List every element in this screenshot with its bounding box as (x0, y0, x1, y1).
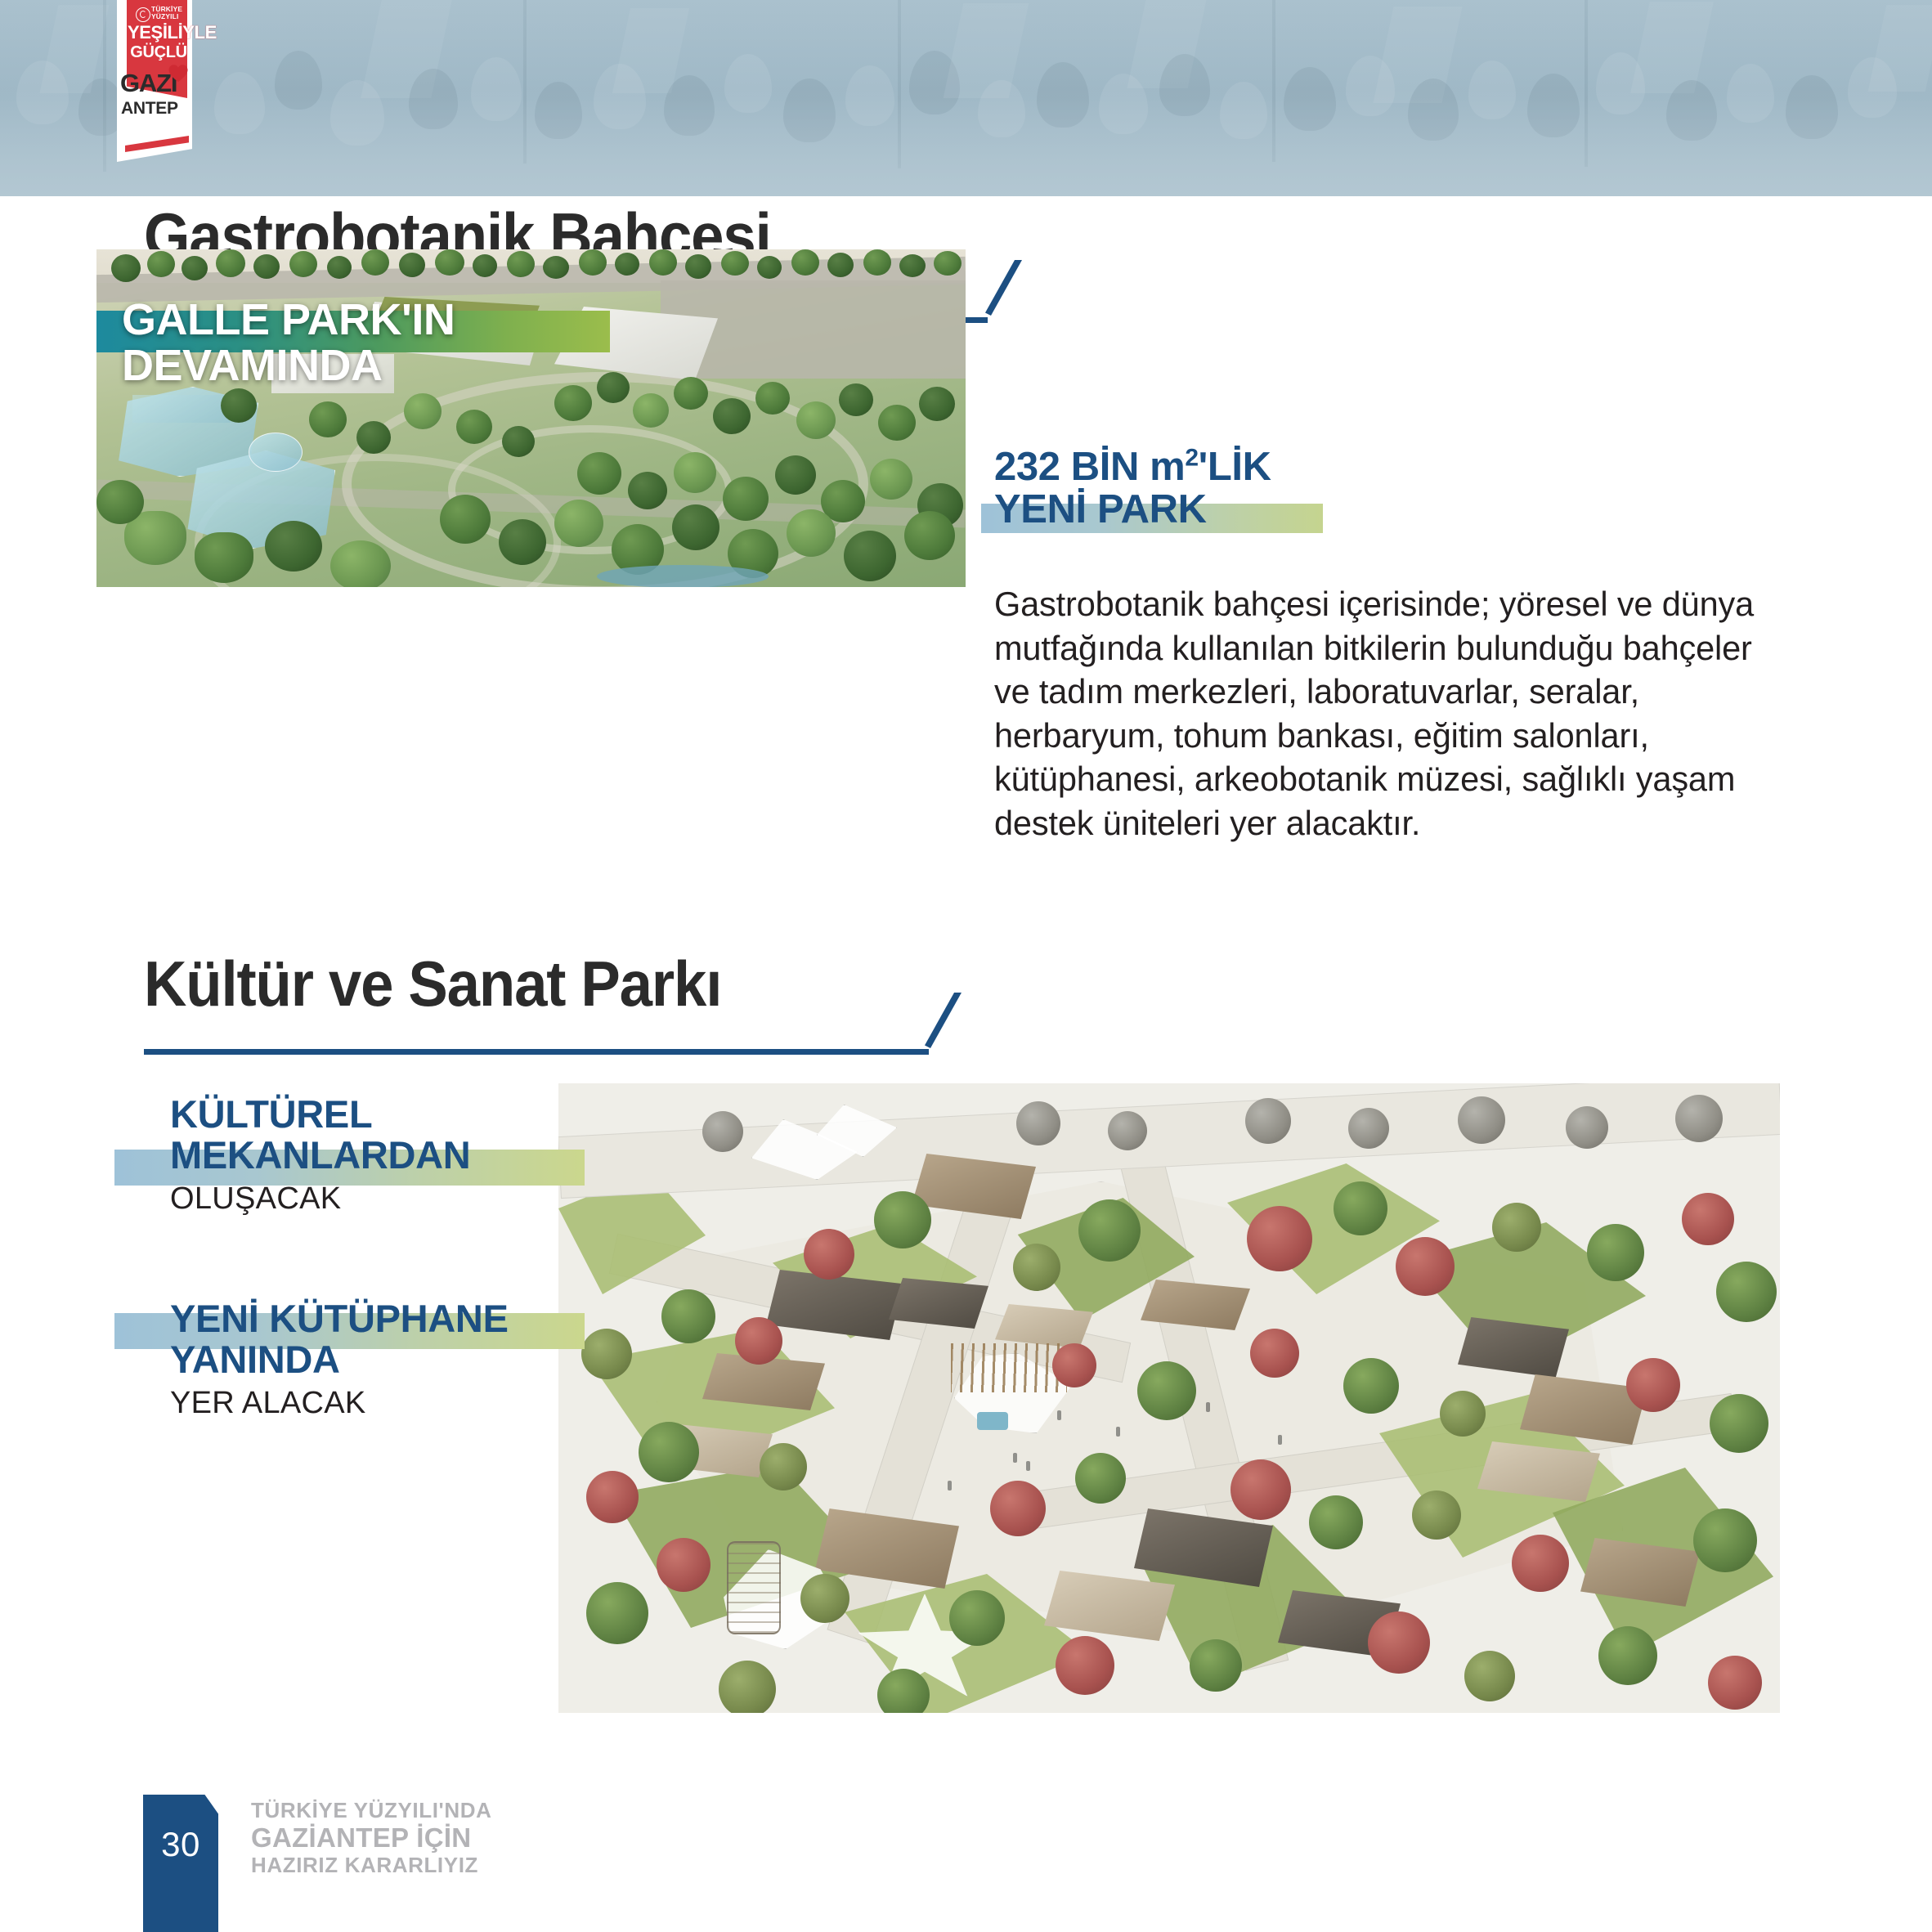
section-rule-2 (144, 1049, 929, 1055)
overlay1-line1: GALLE PARK'IN (122, 295, 455, 344)
label-block-kulturel: KÜLTÜREL MEKANLARDAN OLUŞACAK (170, 1094, 554, 1217)
label-kulturel-line2: MEKANLARDAN (170, 1135, 554, 1176)
render1-text-overlay: GALLE PARK'IN DEVAMINDA (96, 249, 966, 587)
kpi-heading-block: 232 BİN m2'LİK YENİ PARK (994, 446, 1779, 533)
footer-tagline: TÜRKİYE YÜZYILI'NDA GAZİANTEP İÇİN HAZIR… (251, 1798, 491, 1878)
label-kutuphane-line1: YENİ KÜTÜPHANE (170, 1298, 554, 1339)
footer-tagline-line3: HAZIRIZ KARARLIYIZ (251, 1853, 491, 1878)
footer-tagline-line2: GAZİANTEP İÇİN (251, 1823, 491, 1853)
overlay1-text: GALLE PARK'IN DEVAMINDA (122, 297, 455, 388)
header-sheen-overlay (0, 0, 1932, 196)
label-kutuphane-sub: YER ALACAK (170, 1385, 554, 1421)
gastrobotanik-render-image: GALLE PARK'IN DEVAMINDA (96, 249, 966, 587)
logo-line-guclu: GÜÇLÜ (128, 44, 190, 61)
label-block-kutuphane: YENİ KÜTÜPHANE YANINDA YER ALACAK (170, 1298, 554, 1421)
kpi-superscript: 2 (1185, 445, 1198, 472)
section-slash-1 (975, 260, 1025, 316)
logo-line-yesiliyle: YEŞİLİYLE (128, 23, 190, 42)
kpi-line1: 232 BİN m2'LİK (994, 446, 1779, 488)
section-slash-2 (914, 993, 965, 1048)
logo-turkiye-yuzyili-text: TÜRKİYE YÜZYILI (151, 6, 182, 21)
label-kulturel-sub: OLUŞACAK (170, 1181, 554, 1217)
kpi-line1-post: 'LİK (1199, 445, 1271, 489)
section-title-kultur-sanat: Kültür ve Sanat Parkı (144, 947, 721, 1021)
heart-icon (168, 64, 189, 83)
crescent-star-icon (136, 7, 150, 22)
kpi-line2: YENİ PARK (994, 488, 1207, 531)
gaziantep-logo-badge: TÜRKİYE YÜZYILI YEŞİLİYLE GÜÇLÜ GAZİ ANT… (110, 0, 192, 162)
label-kutuphane-line2: YANINDA (170, 1339, 554, 1380)
footer-tagline-line1: TÜRKİYE YÜZYILI'NDA (251, 1798, 491, 1823)
page-number: 30 (143, 1825, 218, 1864)
label-kulturel-line1: KÜLTÜREL (170, 1094, 554, 1135)
overlay1-line2: DEVAMINDA (122, 341, 383, 390)
kultur-sanat-render-image (558, 1083, 1780, 1713)
page-header-band (0, 0, 1932, 196)
gastrobotanik-body-text: Gastrobotanik bahçesi içerisinde; yörese… (994, 582, 1755, 845)
logo-line-antep: ANTEP (121, 100, 186, 118)
logo-tr-line2: YÜZYILI (151, 12, 179, 20)
kpi-line1-pre: 232 BİN m (994, 445, 1185, 489)
